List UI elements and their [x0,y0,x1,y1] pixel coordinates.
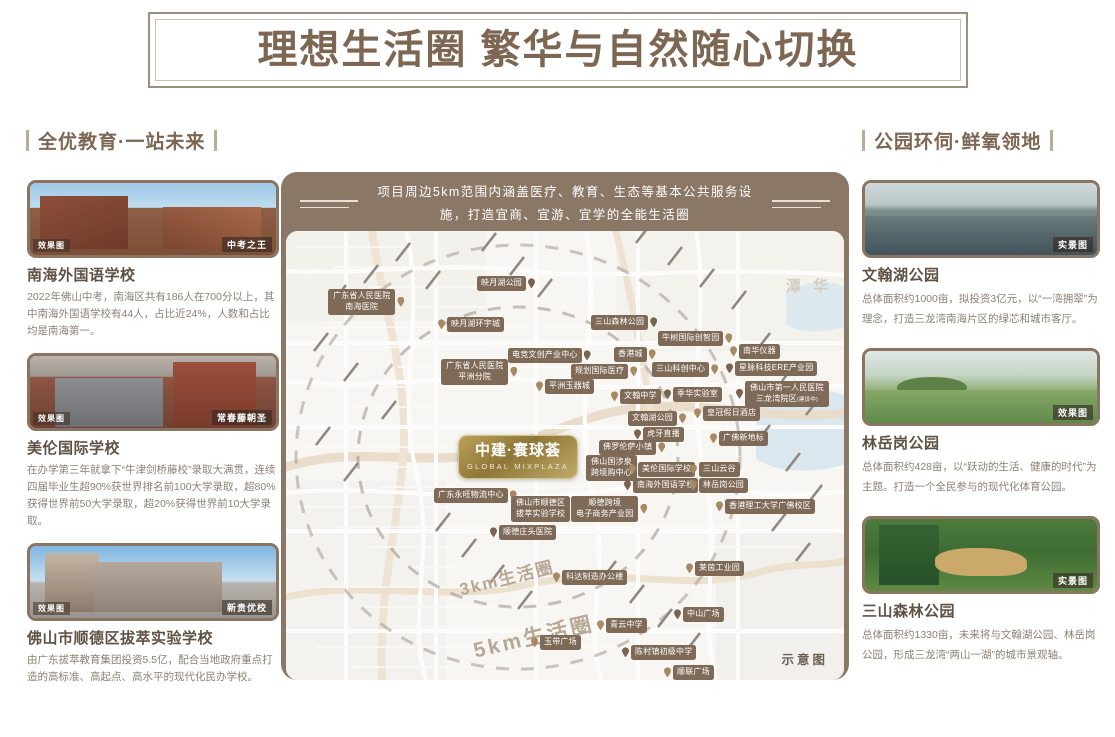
map-poi-marker[interactable]: 广东永旺物流中心 [434,488,517,503]
map-poi-marker[interactable]: 映月湖公园 [477,276,535,291]
map-pin-icon [730,346,737,356]
map-poi-label: 顺德跨境电子商务产业园 [571,496,638,522]
map-poi-marker[interactable]: 美伦国际学校 [629,462,695,477]
map-pin-icon [726,363,733,373]
map-poi-marker[interactable]: 电竞文创产业中心 [508,348,591,363]
map-poi-marker[interactable]: 季华实验室 [664,387,722,402]
card-title: 三山森林公园 [862,600,1100,621]
map-poi-marker[interactable]: 星脉科技ERE产业园 [726,361,817,376]
card-title: 南海外国语学校 [27,264,279,285]
map-poi-marker[interactable]: 香港理工大学广佛校区 [716,499,815,514]
map-poi-label: 文翰中学 [620,389,661,404]
left-heading-text: 全优教育·一站未来 [38,127,205,154]
map-poi-marker[interactable]: 佛山市顺德区拔萃实验学校 [511,496,579,522]
map-poi-label: 莱茵工业园 [695,561,744,576]
map-poi-label: 电竞文创产业中心 [508,348,582,363]
map-poi-label: 香港理工大学广佛校区 [725,499,815,514]
map-poi-marker[interactable]: 文翰湖公园 [628,411,686,426]
map-poi-marker[interactable]: 三山云谷 [690,462,740,477]
card-description: 在办学第三年就拿下“牛津剑桥藤校”录取大满贯，连续四届毕业生超90%获世界排名前… [27,462,279,530]
map-poi-label: 广东省人民医院南海医院 [328,289,395,315]
map-poi-marker[interactable]: 青云中学 [597,618,647,633]
map-pin-icon [438,319,445,329]
map-pin-icon [690,464,697,474]
map-poi-marker[interactable]: 科达制造办公楼 [553,570,627,585]
map-pin-icon [650,317,657,327]
map-poi-label: 映月湖环宇城 [447,317,504,332]
map-poi-label: 季华实验室 [673,387,722,402]
map-poi-marker[interactable]: 佛罗伦萨小镇 [599,440,665,455]
left-section-heading: 全优教育·一站未来 [26,127,217,154]
map-pin-icon [640,504,647,514]
card-title: 文翰湖公园 [862,264,1100,285]
park-card[interactable]: 效果图 林岳岗公园 总体面积约428亩，以“跃动的生活、健康的时代”为主题。打造… [862,348,1100,498]
map-poi-marker[interactable]: 顺联广场 [664,665,714,680]
park-card[interactable]: 实景图 三山森林公园 总体面积约1330亩，未来将与文翰湖公园、林岳岗公园，形成… [862,516,1100,666]
map-poi-label: 顺德庄头医院 [499,525,556,540]
map-poi-label: 南华仪器 [739,344,780,359]
map-poi-marker[interactable]: 顺德跨境电子商务产业园 [571,496,647,522]
school-photo: 效果图 常春藤朝圣 [27,353,279,431]
map-pin-icon [725,333,732,343]
card-description: 2022年佛山中考，南海区共有186人在700分以上，其中南海外国语学校有44人… [27,289,279,340]
map-poi-marker[interactable]: 广佛新地标 [710,431,768,446]
map-poi-marker[interactable]: 香港城 [614,347,656,362]
page-title-banner: 理想生活圈 繁华与自然随心切换 [148,12,968,88]
map-poi-label: 广佛新地标 [719,431,768,446]
photo-tag-right: 常春藤朝圣 [212,410,272,425]
map-pin-icon [711,364,718,374]
rule-left-icon [300,200,358,208]
map-poi-label: 三山森林公园 [591,315,648,330]
map-watermark: 潭 华 [786,275,832,296]
park-photo: 实景图 [862,180,1100,258]
map-poi-marker[interactable]: 顺德庄头医院 [490,525,556,540]
map-pin-icon [710,433,717,443]
education-card-list: 效果图 中考之王 南海外国语学校 2022年佛山中考，南海区共有186人在700… [27,180,279,699]
photo-tag-right: 新贵优校 [222,600,272,615]
map-poi-label: 三山云谷 [699,462,740,477]
map-poi-marker[interactable]: 平洲玉器城 [536,379,594,394]
heading-bar-left [862,130,865,151]
map-pin-icon [622,647,629,657]
map-poi-marker[interactable]: 文翰中学 [611,389,661,404]
project-logo[interactable]: 中建·寰球荟 GLOBAL MIXPLAZA [458,435,578,479]
map-panel[interactable]: 项目周边5km范围内涵盖医疗、教育、生态等基本公共服务设施，打造宜商、宜游、宜学… [281,172,849,680]
map-pin-icon [694,408,701,418]
map-pin-icon [490,527,497,537]
card-description: 总体面积约1000亩，拟投资3亿元，以“一湾拥翠”为理念，打造三龙湾南海片区的绿… [862,289,1100,330]
map-banner-text: 项目周边5km范围内涵盖医疗、教育、生态等基本公共服务设施，打造宜商、宜游、宜学… [368,181,762,227]
card-description: 由广东拔萃教育集团投资5.5亿，配合当地政府重点打造的高标准、高起点、高水平的现… [27,652,279,686]
photo-tag-right: 效果图 [1053,405,1093,420]
map-poi-label: 牛树国际创智园 [658,331,723,346]
map-poi-label: 南海外国语学校 [633,478,698,493]
map-pin-icon [624,480,631,490]
map-poi-marker[interactable]: 映月湖环宇城 [438,317,504,332]
card-title: 佛山市顺德区拔萃实验学校 [27,627,279,648]
map-poi-label: 中山广场 [683,607,724,622]
map-poi-label: 三山科创中心 [652,362,709,377]
map-banner: 项目周边5km范围内涵盖医疗、教育、生态等基本公共服务设施，打造宜商、宜游、宜学… [286,177,844,231]
park-photo: 实景图 [862,516,1100,594]
map-pin-icon [531,637,538,647]
map-poi-marker[interactable]: 南海外国语学校 [624,478,698,493]
map-pin-icon [664,667,671,677]
right-heading-text: 公园环伺·鲜氧领地 [874,127,1041,154]
map-poi-marker[interactable]: 林岳岗公园 [690,478,748,493]
education-card[interactable]: 效果图 常春藤朝圣 美伦国际学校 在办学第三年就拿下“牛津剑桥藤校”录取大满贯，… [27,353,279,530]
map-poi-marker[interactable]: 皇冠假日酒店 [694,406,760,421]
park-card-list: 实景图 文翰湖公园 总体面积约1000亩，拟投资3亿元，以“一湾拥翠”为理念，打… [862,180,1100,684]
map-pin-icon [611,391,618,401]
photo-tag-left: 效果图 [33,412,70,425]
map-poi-marker[interactable]: 莱茵工业园 [686,561,744,576]
map-poi-marker[interactable]: 广东省人民医院平洲分院 [441,359,517,385]
school-photo: 效果图 中考之王 [27,180,279,258]
project-logo-cn: 中建·寰球荟 [475,443,561,460]
map-pin-icon [597,620,604,630]
map-pin-icon [664,389,671,399]
map-poi-label: 青云中学 [606,618,647,633]
map-poi-marker[interactable]: 玉带广场 [531,635,581,650]
map-poi-marker[interactable]: 规划国际医疗 [571,364,637,379]
map-poi-marker[interactable]: 陈村镇初级中学 [622,645,696,660]
map-pin-icon [736,389,743,399]
map-poi-label: 佛山市顺德区拔萃实验学校 [511,496,570,522]
card-description: 总体面积约1330亩，未来将与文翰湖公园、林岳岗公园，形成三龙湾“两山一湖”的城… [862,625,1100,666]
map-pin-icon [630,366,637,376]
map-poi-marker[interactable]: 牛树国际创智园 [658,331,732,346]
map-poi-label: 陈村镇初级中学 [631,645,696,660]
map-poi-label: 映月湖公园 [477,276,526,291]
map-poi-label: 广东省人民医院平洲分院 [441,359,508,385]
card-title: 林岳岗公园 [862,432,1100,453]
map-pin-icon [553,572,560,582]
map-pin-icon [536,381,543,391]
card-title: 美伦国际学校 [27,437,279,458]
rule-right-icon [772,200,830,208]
map-poi-label: 佛罗伦萨小镇 [599,440,656,455]
education-card[interactable]: 效果图 中考之王 南海外国语学校 2022年佛山中考，南海区共有186人在700… [27,180,279,340]
map-poi-marker[interactable]: 佛山市第一人民医院三龙湾院区(建设中) [736,381,829,407]
photo-tag-right: 中考之王 [222,237,272,252]
map-poi-label: 平洲玉器城 [545,379,594,394]
map-canvas[interactable]: 潭 华 3km生活圈 5km生活圈 中建·寰球荟 GLOBAL MIXPLAZA… [286,231,844,680]
map-poi-marker[interactable]: 三山科创中心 [652,362,718,377]
map-poi-marker[interactable]: 中山广场 [674,607,724,622]
map-pin-icon [649,349,656,359]
heading-bar-left [26,130,29,151]
page-title: 理想生活圈 繁华与自然随心切换 [257,30,858,70]
map-pin-icon [690,480,697,490]
park-card[interactable]: 实景图 文翰湖公园 总体面积约1000亩，拟投资3亿元，以“一湾拥翠”为理念，打… [862,180,1100,330]
project-logo-en: GLOBAL MIXPLAZA [467,462,569,471]
school-photo: 效果图 新贵优校 [27,543,279,621]
map-poi-label: 广东永旺物流中心 [434,488,508,503]
map-poi-marker[interactable]: 南华仪器 [730,344,780,359]
map-poi-label: 佛山市第一人民医院三龙湾院区(建设中) [745,381,829,407]
photo-tag-left: 效果图 [33,239,70,252]
map-poi-marker[interactable]: 广东省人民医院南海医院 [328,289,404,315]
map-pin-icon [674,609,681,619]
schematic-note: 示意图 [781,649,828,668]
map-pin-icon [679,413,686,423]
education-card[interactable]: 效果图 新贵优校 佛山市顺德区拔萃实验学校 由广东拔萃教育集团投资5.5亿，配合… [27,543,279,686]
map-pin-icon [528,278,535,288]
title-inner-frame: 理想生活圈 繁华与自然随心切换 [155,19,961,81]
map-poi-label: 林岳岗公园 [699,478,748,493]
card-description: 总体面积约428亩，以“跃动的生活、健康的时代”为主题。打造一个全民参与的现代化… [862,457,1100,498]
map-pin-icon [634,429,641,439]
photo-tag-left: 效果图 [33,602,70,615]
map-poi-label: 规划国际医疗 [571,364,628,379]
map-poi-marker[interactable]: 三山森林公园 [591,315,657,330]
right-section-heading: 公园环伺·鲜氧领地 [862,127,1053,154]
map-pin-icon [658,442,665,452]
photo-tag-right: 实景图 [1053,573,1093,588]
map-poi-sublabel: (建设中) [797,397,818,403]
heading-bar-right [214,130,217,151]
map-pin-icon [584,350,591,360]
photo-tag-right: 实景图 [1053,237,1093,252]
map-pin-icon [397,297,404,307]
map-poi-label: 星脉科技ERE产业园 [735,361,817,376]
map-poi-label: 玉带广场 [540,635,581,650]
map-pin-icon [716,501,723,511]
map-poi-label: 美伦国际学校 [638,462,695,477]
map-pin-icon [510,367,517,377]
map-poi-label: 皇冠假日酒店 [703,406,760,421]
map-pin-icon [686,563,693,573]
map-poi-label: 顺联广场 [673,665,714,680]
map-poi-label: 香港城 [614,347,647,362]
heading-bar-right [1050,130,1053,151]
map-poi-label: 文翰湖公园 [628,411,677,426]
map-pin-icon [629,464,636,474]
park-photo: 效果图 [862,348,1100,426]
map-poi-label: 科达制造办公楼 [562,570,627,585]
poster-page: 理想生活圈 繁华与自然随心切换 全优教育·一站未来 公园环伺·鲜氧领地 效果图 … [0,0,1115,737]
